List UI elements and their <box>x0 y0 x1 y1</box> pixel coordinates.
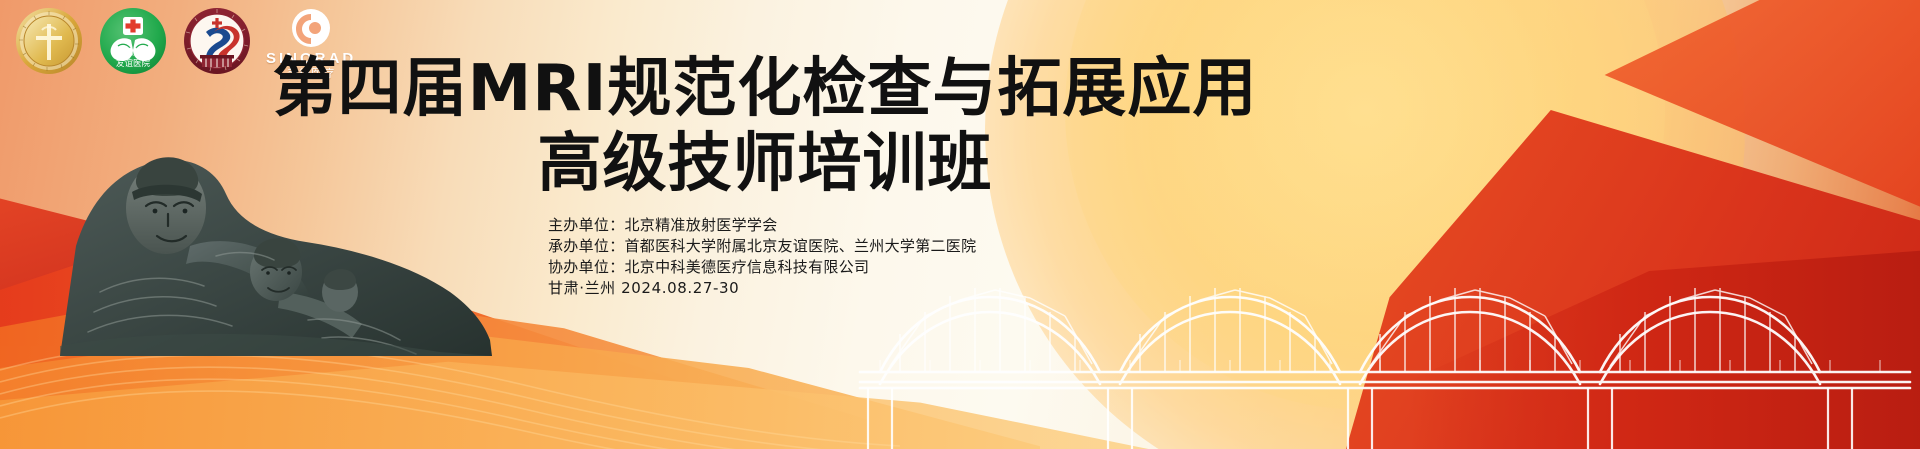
title-line-1: 第四届MRI规范化检查与拓展应用 <box>0 56 1530 123</box>
info-organizer: 主办单位：北京精准放射医学学会 <box>548 215 976 236</box>
info-venue-date: 甘肃·兰州 2024.08.27-30 <box>548 278 976 299</box>
info-coorganizer: 协办单位：北京中科美德医疗信息科技有限公司 <box>548 257 976 278</box>
event-info-block: 主办单位：北京精准放射医学学会 承办单位：首都医科大学附属北京友谊医院、兰州大学… <box>548 215 976 299</box>
sinorad-mark-icon <box>290 7 332 49</box>
info-host: 承办单位：首都医科大学附属北京友谊医院、兰州大学第二医院 <box>548 236 976 257</box>
zhongshan-bridge-illustration <box>820 176 1920 449</box>
conference-banner: 北京 友谊医院 <box>0 0 1920 449</box>
banner-title: 第四届MRI规范化检查与拓展应用 高级技师培训班 <box>0 56 1530 197</box>
title-line-2: 高级技师培训班 <box>0 131 1530 198</box>
